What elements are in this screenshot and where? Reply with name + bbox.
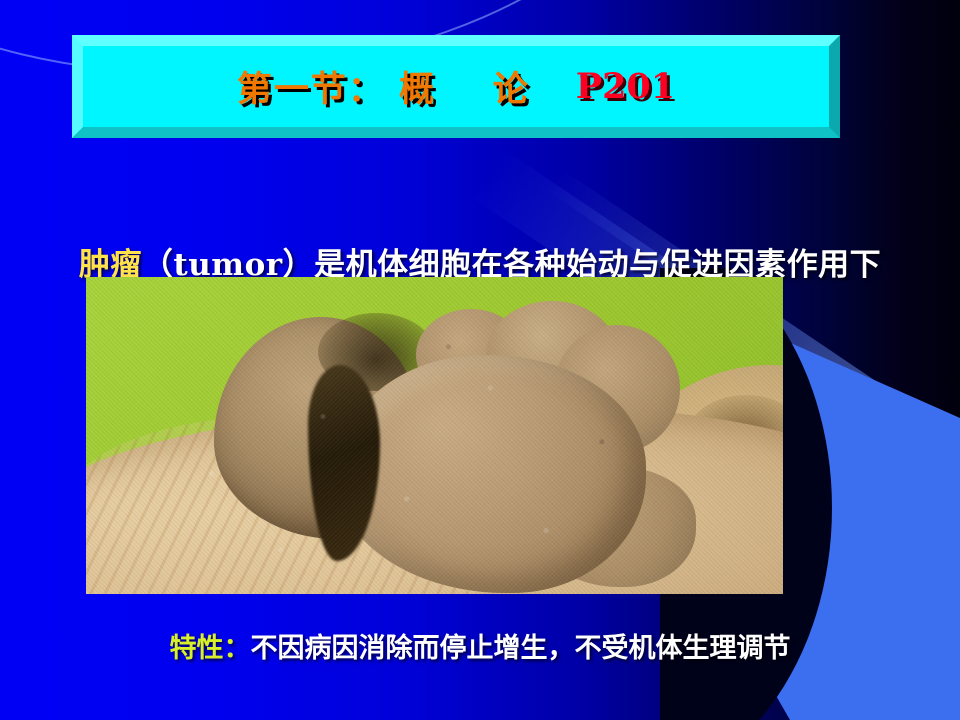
page-reference: P201 <box>576 66 675 107</box>
caption-text: 不因病因消除而停止增生，不受机体生理调节 <box>251 633 791 664</box>
photo-halftone-texture <box>86 277 783 594</box>
figure-caption: 特性：不因病因消除而停止增生，不受机体生理调节 <box>0 626 960 665</box>
section-heading: 第一节： 概 论 <box>237 61 530 112</box>
caption-label: 特性： <box>170 633 251 664</box>
slide-canvas: 第一节： 概 论 P201 肿瘤（tumor）是机体细胞在各种始动与促进因素作用… <box>0 0 960 720</box>
title-plaque: 第一节： 概 论 P201 <box>72 35 840 138</box>
specimen-photo <box>86 277 783 594</box>
